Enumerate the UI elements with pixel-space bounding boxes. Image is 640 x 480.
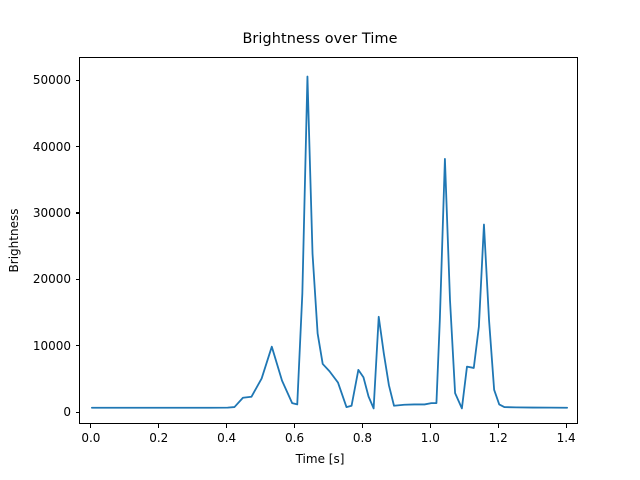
x-tick-label: 0.4 — [217, 431, 236, 445]
x-tick-label: 0.2 — [149, 431, 168, 445]
x-tick-mark — [566, 424, 567, 428]
x-tick-label: 1.2 — [489, 431, 508, 445]
x-tick-mark — [430, 424, 431, 428]
chart-title: Brightness over Time — [0, 31, 640, 47]
y-axis-label: Brightness — [6, 57, 22, 424]
x-tick-mark — [362, 424, 363, 428]
x-tick-label: 1.4 — [557, 431, 576, 445]
y-tick-mark — [76, 412, 80, 413]
x-tick-label: 0.8 — [353, 431, 372, 445]
x-tick-mark — [226, 424, 227, 428]
y-tick-mark — [76, 146, 80, 147]
y-tick-mark — [76, 345, 80, 346]
x-tick-label: 0.0 — [81, 431, 100, 445]
data-line-series — [80, 58, 579, 425]
x-tick-mark — [498, 424, 499, 428]
x-tick-mark — [294, 424, 295, 428]
chart-figure: Brightness over Time 0100002000030000400… — [0, 0, 640, 480]
x-tick-label: 1.0 — [421, 431, 440, 445]
plot-area — [79, 57, 578, 424]
y-tick-mark — [76, 279, 80, 280]
y-tick-mark — [76, 212, 80, 213]
x-tick-label: 0.6 — [285, 431, 304, 445]
x-tick-mark — [90, 424, 91, 428]
y-tick-mark — [76, 80, 80, 81]
x-axis-label: Time [s] — [0, 452, 640, 466]
x-tick-mark — [158, 424, 159, 428]
